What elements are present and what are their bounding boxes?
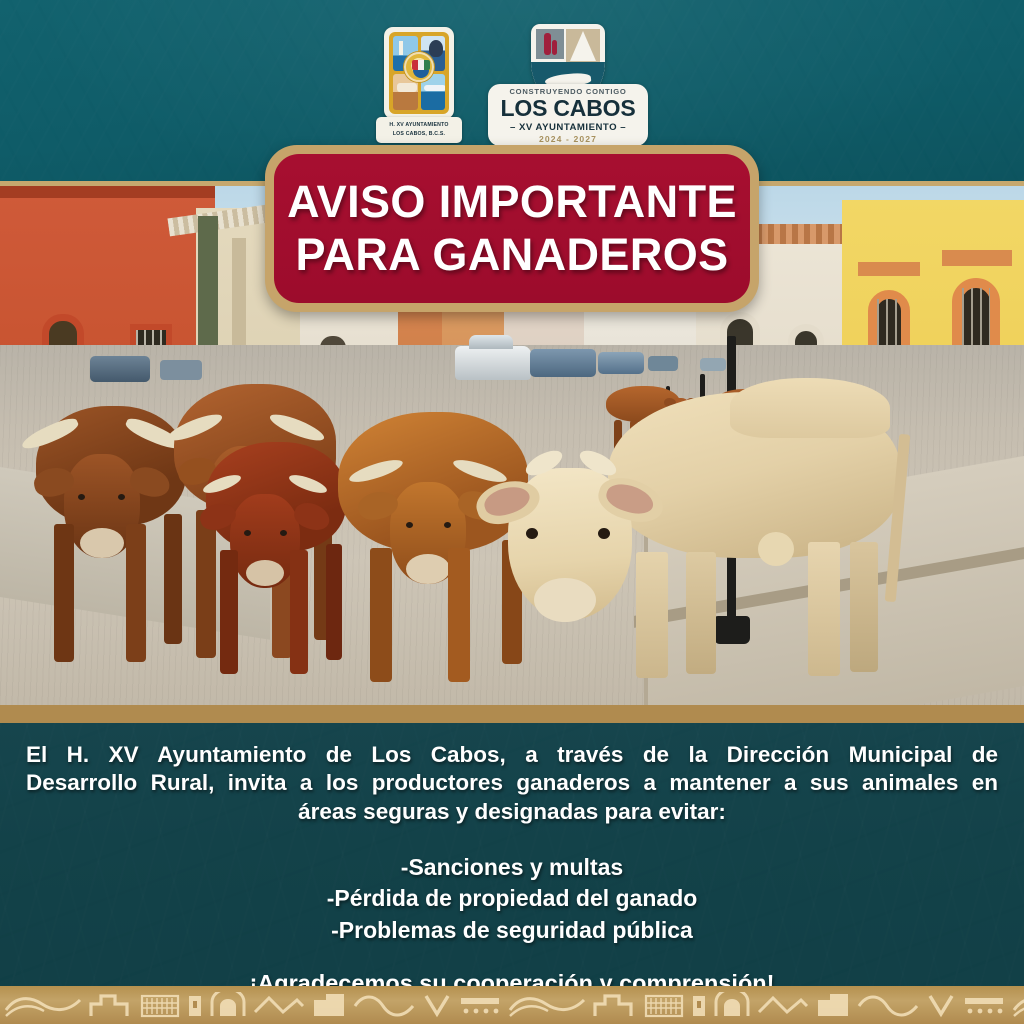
intro-line-1: El H. XV Ayuntamiento de Los Cabos, a tr… [26,741,998,769]
car-far-1 [648,356,678,371]
title-banner: AVISO IMPORTANTE PARA GANADEROS [265,145,759,312]
intro-paragraph: El H. XV Ayuntamiento de Los Cabos, a tr… [26,741,998,826]
cactus-icon [544,33,551,55]
car-blue-1 [530,349,596,377]
car-blue-2 [598,352,644,374]
cow-foreground-cream [490,382,910,682]
arch-rock-icon [570,31,596,61]
los-cabos-nameplate: CONSTRUYENDO CONTIGO LOS CABOS – XV AYUN… [488,84,648,146]
los-cabos-subtitle: – XV AYUNTAMIENTO – [510,122,626,133]
poster-canvas: H. XV AYUNTAMIENTO LOS CABOS, B.C.S. CON… [0,0,1024,1024]
los-cabos-name: LOS CABOS [501,97,636,120]
logos-row: H. XV AYUNTAMIENTO LOS CABOS, B.C.S. CON… [0,22,1024,147]
intro-line-3: áreas seguras y designadas para evitar: [26,798,998,826]
list-item: -Problemas de seguridad pública [26,915,998,946]
cornice-1 [858,262,920,276]
roof-red [0,186,215,198]
body-band: El H. XV Ayuntamiento de Los Cabos, a tr… [0,705,1024,1024]
list-item: -Sanciones y multas [26,852,998,883]
coa-plaque-line1: H. XV AYUNTAMIENTO [389,121,448,129]
decorative-glyph-border [0,986,1024,1024]
los-cabos-logo: CONSTRUYENDO CONTIGO LOS CABOS – XV AYUN… [488,24,648,146]
car-white [455,346,531,380]
cornice-2 [942,250,1012,266]
title-line-1: AVISO IMPORTANTE [287,177,737,227]
coa-center-emblem [404,52,434,82]
coa-plaque-line2: LOS CABOS, B.C.S. [393,130,445,138]
los-cabos-years: 2024 - 2027 [539,134,597,144]
consequences-list: -Sanciones y multas -Pérdida de propieda… [26,852,998,946]
title-line-2: PARA GANADEROS [295,230,728,280]
cactus-arm-icon [552,40,557,55]
list-item: -Pérdida de propiedad del ganado [26,883,998,914]
car-far-2 [700,358,726,371]
title-banner-inner: AVISO IMPORTANTE PARA GANADEROS [274,154,750,303]
coat-of-arms-icon: H. XV AYUNTAMIENTO LOS CABOS, B.C.S. [376,25,462,145]
body-content: El H. XV Ayuntamiento de Los Cabos, a tr… [0,723,1024,1024]
coat-of-arms-plaque: H. XV AYUNTAMIENTO LOS CABOS, B.C.S. [376,117,462,143]
intro-line-2: Desarrollo Rural, invita a los productor… [26,769,998,797]
glyph-row [0,992,1024,1018]
